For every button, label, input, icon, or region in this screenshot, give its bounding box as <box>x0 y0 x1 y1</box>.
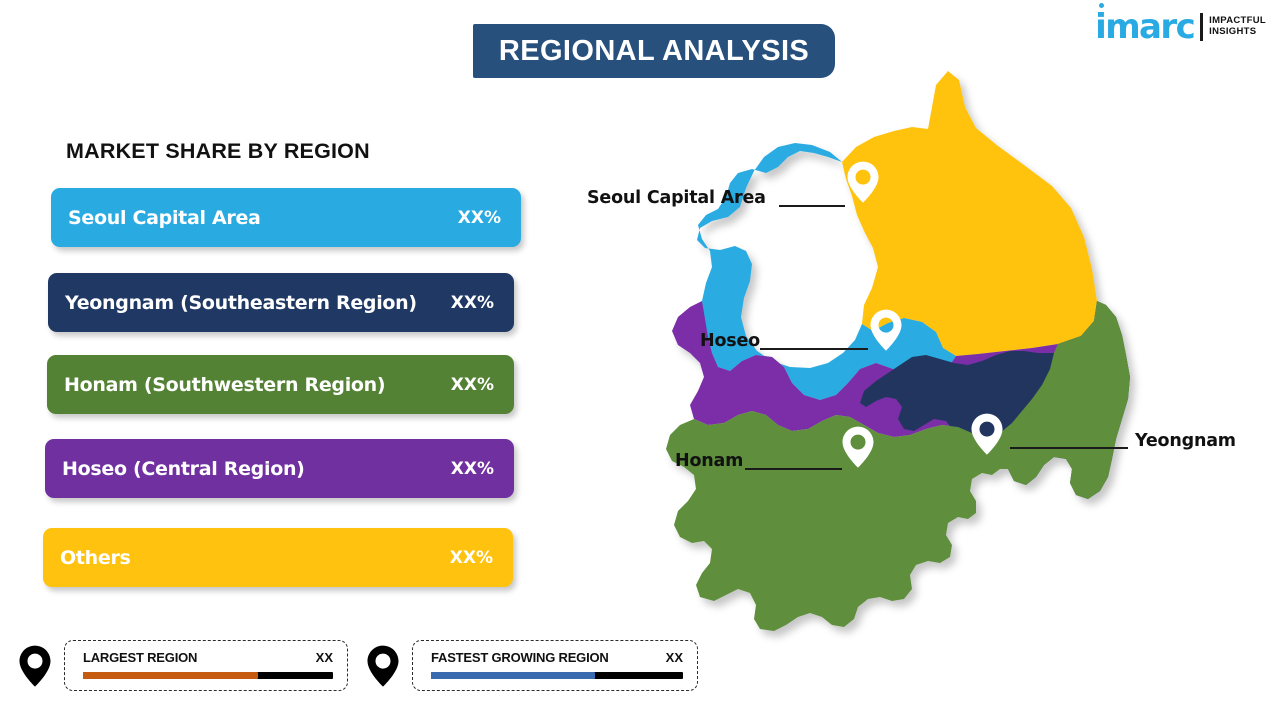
region-bar[interactable]: Yeongnam (Southeastern Region)XX% <box>48 273 514 332</box>
legend-progress-fill <box>431 672 595 679</box>
map-pin-icon <box>366 644 400 688</box>
legend-item: LARGEST REGIONXX <box>18 640 348 691</box>
legend-box: LARGEST REGIONXX <box>64 640 348 691</box>
legend-label: FASTEST GROWING REGION <box>431 650 609 665</box>
map-pin-icon-seoul[interactable] <box>846 160 880 209</box>
region-bar-label: Seoul Capital Area <box>68 207 261 229</box>
region-bar-value: XX% <box>450 548 493 568</box>
south-korea-region-map <box>660 55 1280 710</box>
legend-progress-track <box>431 672 683 679</box>
logo-wordmark-text: imarc <box>1095 7 1194 47</box>
region-bar-label: Others <box>60 547 131 569</box>
map-pin-icon-hoseo[interactable] <box>869 308 903 357</box>
legend-row: LARGEST REGIONXX <box>83 650 333 665</box>
logo-tagline-line2: INSIGHTS <box>1209 27 1266 38</box>
map-label-honam: Honam <box>675 451 743 471</box>
map-svg <box>660 55 1280 710</box>
map-pin-icon-honam[interactable] <box>841 425 875 474</box>
imarc-logo: imarc IMPACTFUL INSIGHTS <box>1095 10 1266 44</box>
map-label-seoul: Seoul Capital Area <box>587 188 766 208</box>
legend-box: FASTEST GROWING REGIONXX <box>412 640 698 691</box>
region-bar-value: XX% <box>451 293 494 313</box>
slide-canvas: REGIONAL ANALYSIS imarc IMPACTFUL INSIGH… <box>0 0 1280 720</box>
region-bar-label: Yeongnam (Southeastern Region) <box>65 292 417 314</box>
map-label-yeongnam: Yeongnam <box>1135 431 1236 451</box>
map-leader-line <box>745 468 842 470</box>
logo-divider <box>1200 13 1203 41</box>
region-bar-value: XX% <box>451 459 494 479</box>
region-bar[interactable]: Honam (Southwestern Region)XX% <box>47 355 514 414</box>
legend-value: XX <box>316 650 333 665</box>
region-bar-label: Honam (Southwestern Region) <box>64 374 385 396</box>
logo-wordmark: imarc <box>1095 10 1194 44</box>
region-bar-label: Hoseo (Central Region) <box>62 458 305 480</box>
region-bar-value: XX% <box>458 208 501 228</box>
map-leader-line <box>760 348 868 350</box>
map-label-hoseo: Hoseo <box>700 331 760 351</box>
legend-progress-fill <box>83 672 258 679</box>
legend-label: LARGEST REGION <box>83 650 197 665</box>
market-share-heading: MARKET SHARE BY REGION <box>66 139 370 164</box>
region-bar-value: XX% <box>451 375 494 395</box>
map-leader-line <box>1010 447 1128 449</box>
map-leader-line <box>779 205 845 207</box>
region-bar[interactable]: Seoul Capital AreaXX% <box>51 188 521 247</box>
region-bar[interactable]: OthersXX% <box>43 528 513 587</box>
logo-tagline: IMPACTFUL INSIGHTS <box>1209 16 1266 38</box>
legend-row: FASTEST GROWING REGIONXX <box>431 650 683 665</box>
legend-item: FASTEST GROWING REGIONXX <box>366 640 698 691</box>
legend-progress-track <box>83 672 333 679</box>
map-pin-icon <box>18 644 52 688</box>
map-pin-icon-yeongnam[interactable] <box>970 412 1004 461</box>
region-bar[interactable]: Hoseo (Central Region)XX% <box>45 439 514 498</box>
